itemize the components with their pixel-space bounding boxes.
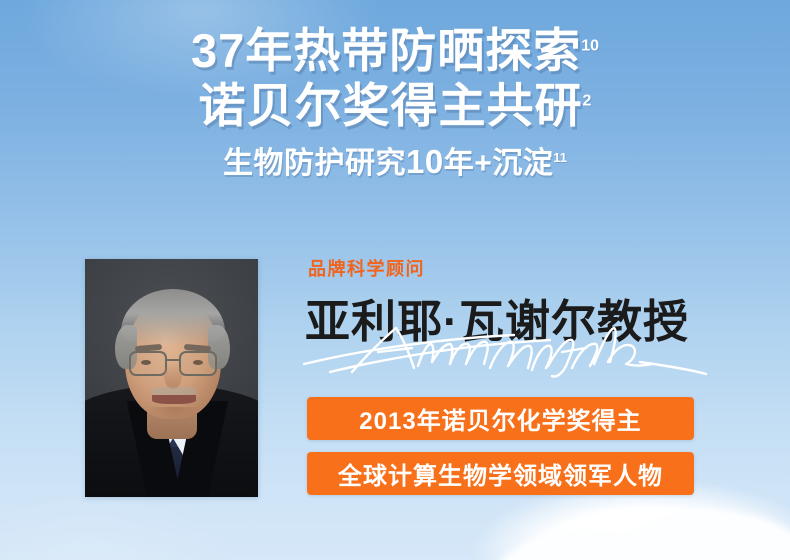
cloud-puff-icon	[490, 530, 680, 560]
headline-line-2-text: 诺贝尔奖得主共研	[199, 79, 583, 132]
headline-line-2: 诺贝尔奖得主共研2	[0, 81, 790, 132]
headline-line-1-text: 37年热带防晒探索	[191, 24, 581, 77]
credential-badge-2: 全球计算生物学领域领军人物	[307, 452, 694, 495]
headline-line-3-number: 10	[406, 143, 444, 180]
chin-shadow	[145, 407, 203, 423]
lens-left	[129, 351, 167, 376]
expert-portrait-photo	[85, 259, 258, 497]
headline-line-1: 37年热带防晒探索10	[0, 26, 790, 77]
nose	[164, 363, 182, 389]
headline-line-3-superscript: 11	[553, 150, 567, 165]
credential-badge-2-label: 全球计算生物学领域领军人物	[338, 456, 663, 491]
credential-badge-1-label: 2013年诺贝尔化学奖得主	[359, 401, 641, 436]
credential-badge-1: 2013年诺贝尔化学奖得主	[307, 397, 694, 440]
promo-banner: 37年热带防晒探索10 诺贝尔奖得主共研2 生物防护研究10年+沉淀11	[0, 0, 790, 560]
expert-role-label: 品牌科学顾问	[308, 255, 425, 281]
glasses-bridge	[167, 359, 179, 361]
headline-line-2-superscript: 2	[583, 92, 592, 109]
mouth	[152, 395, 196, 404]
headline-line-3-prefix: 生物防护研究	[223, 147, 406, 180]
cloud-puff-icon	[640, 532, 770, 560]
lens-right	[179, 351, 217, 376]
headline-line-3: 生物防护研究10年+沉淀11	[0, 144, 790, 180]
expert-name: 亚利耶·瓦谢尔教授	[305, 285, 689, 350]
headline-line-3-suffix: 年+沉淀	[444, 147, 554, 180]
headline-line-1-superscript: 10	[581, 37, 599, 54]
cloud-puff-icon	[595, 510, 790, 560]
cloud-puff-icon	[680, 540, 790, 560]
headline-block: 37年热带防晒探索10 诺贝尔奖得主共研2 生物防护研究10年+沉淀11	[0, 26, 790, 180]
portrait-illustration	[85, 259, 258, 497]
